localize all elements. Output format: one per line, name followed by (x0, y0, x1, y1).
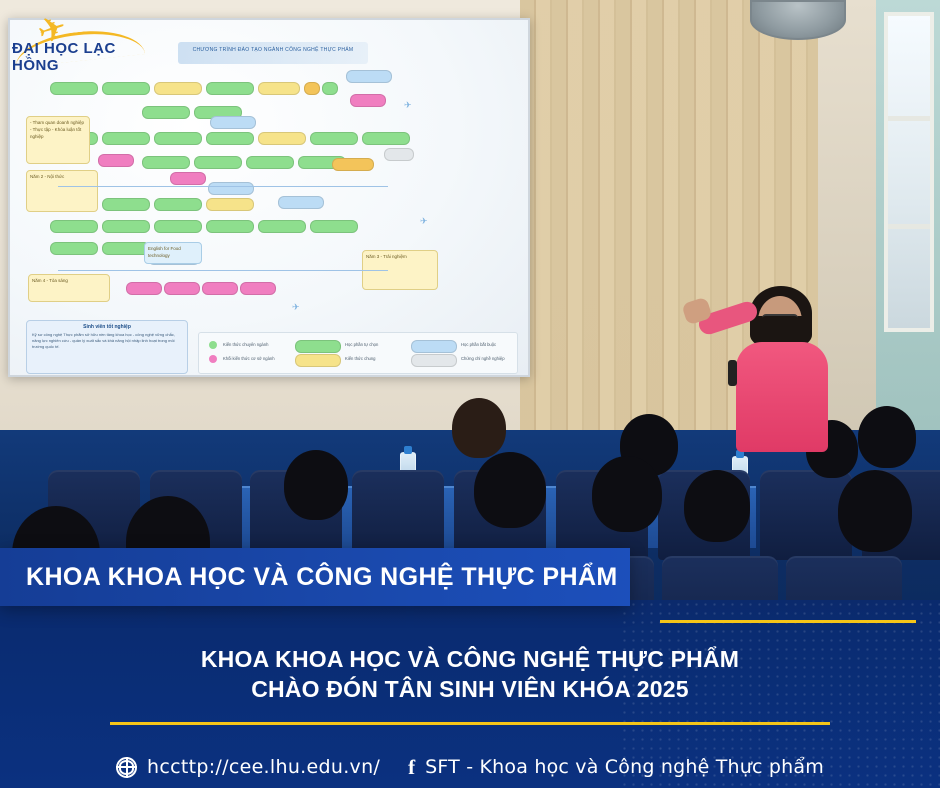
poster: CHƯƠNG TRÌNH ĐÀO TẠO NGÀNH CÔNG NGHỆ THỰ… (0, 0, 940, 788)
legend-item-2: Học phần tự chọn (345, 342, 378, 347)
slide-note-year2: Năm 2 - Nội thức (26, 170, 98, 212)
facebook-icon: f (408, 755, 415, 780)
slide-legend: Kiến thức chuyên ngành Khối kiến thức cơ… (198, 332, 518, 374)
yellow-rule-bottom (110, 722, 830, 725)
slide-note-english: English for Food technology (144, 242, 202, 264)
slide-note-year1: - Tham quan doanh nghiệp - Thực tập - Kh… (26, 116, 90, 164)
slide-title: CHƯƠNG TRÌNH ĐÀO TẠO NGÀNH CÔNG NGHỆ THỰ… (178, 42, 368, 64)
graduate-outcome-box: Sinh viên tốt nghiệp Kỹ sư công nghệ Thự… (26, 320, 188, 374)
graduate-box-body: Kỹ sư công nghệ Thực phẩm sở hữu nền tản… (27, 330, 187, 353)
legend-item-5: Chứng chỉ nghề nghiệp (461, 356, 505, 361)
legend-item-4: Học phần bắt buộc (461, 342, 496, 347)
university-logo: ✈ ĐẠI HỌC LẠC HỒNG (8, 8, 158, 70)
headline-line-2: CHÀO ĐÓN TÂN SINH VIÊN KHÓA 2025 (0, 674, 940, 704)
website-url[interactable]: hccttp://cee.lhu.edu.vn/ (147, 756, 380, 778)
department-bar-label: KHOA KHOA HỌC VÀ CÔNG NGHỆ THỰC PHẨM (0, 563, 618, 592)
window (884, 12, 934, 332)
speaker-person (706, 286, 846, 451)
headline-line-1: KHOA KHOA HỌC VÀ CÔNG NGHỆ THỰC PHẨM (0, 644, 940, 674)
globe-icon (116, 757, 137, 778)
yellow-rule-top (660, 620, 916, 623)
microphone-icon (728, 360, 737, 386)
department-bar: KHOA KHOA HỌC VÀ CÔNG NGHỆ THỰC PHẨM (0, 548, 630, 606)
slide-title-text: CHƯƠNG TRÌNH ĐÀO TẠO NGÀNH CÔNG NGHỆ THỰ… (178, 42, 368, 53)
facebook-page-name[interactable]: SFT - Khoa học và Công nghệ Thực phẩm (425, 756, 824, 778)
ceiling-fan-icon (742, 0, 854, 44)
legend-item-3: Kiến thức chung (345, 356, 376, 361)
footer-facebook[interactable]: f SFT - Khoa học và Công nghệ Thực phẩm (408, 755, 824, 780)
graduate-box-title: Sinh viên tốt nghiệp (27, 321, 187, 330)
footer-website[interactable]: hccttp://cee.lhu.edu.vn/ (116, 756, 380, 778)
legend-item-0: Kiến thức chuyên ngành (223, 342, 268, 347)
glasses-icon (762, 314, 798, 324)
slide-note-year4: Năm 4 - Tỏa sáng (28, 274, 110, 302)
footer: hccttp://cee.lhu.edu.vn/ f SFT - Khoa họ… (0, 746, 940, 788)
logo-text: ĐẠI HỌC LẠC HỒNG (12, 40, 158, 74)
legend-item-1: Khối kiến thức cơ sở ngành (223, 356, 275, 361)
headline: KHOA KHOA HỌC VÀ CÔNG NGHỆ THỰC PHẨM CHÀ… (0, 644, 940, 705)
